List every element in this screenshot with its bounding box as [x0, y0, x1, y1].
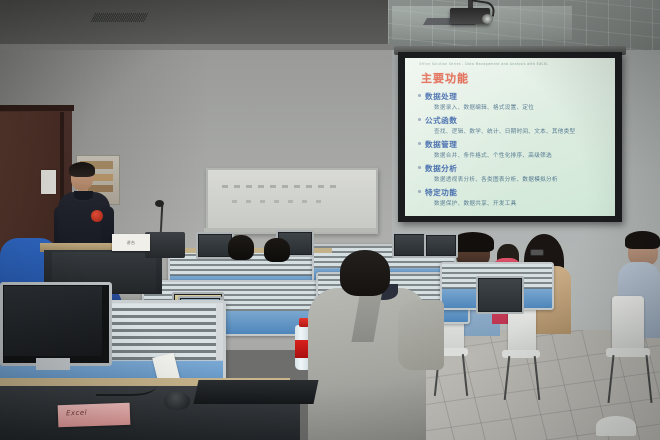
slide-block-sub: 数据透视表分析、各类图表分析、数据模拟分析: [434, 175, 611, 183]
slide-block-heading: 数据处理: [425, 91, 611, 102]
wooden-cabinet-top: [0, 105, 74, 111]
slide-block-heading: 公式函数: [425, 115, 611, 126]
slide-block-sub: 查找、逻辑、数学、统计、日期时间、文本、其他类型: [434, 127, 611, 135]
computer-mouse: [164, 392, 190, 410]
foreground-person-head: [340, 250, 390, 296]
chair-seat: [596, 416, 636, 436]
pink-label-text: Excel: [66, 409, 87, 418]
slide-bullet-icon: [418, 190, 421, 193]
presenter-hair: [69, 162, 95, 177]
classroom-photo-scene: Office Solution Series - Data Management…: [0, 0, 660, 440]
crt-monitor: [476, 276, 524, 314]
slide-bullet-icon: [418, 142, 421, 145]
slide-block-sub: 数据录入、数据编辑、格式设置、定位: [434, 103, 611, 111]
wall-notice-paper: [41, 170, 56, 194]
slide-block: 数据处理 数据录入、数据编辑、格式设置、定位: [425, 91, 611, 111]
monitor-screen: [4, 286, 102, 356]
ceiling-vent-icon: [91, 13, 148, 22]
foreground-person-arm: [398, 300, 444, 370]
microphone-icon: [155, 200, 164, 207]
slide-bullet-icon: [418, 118, 421, 121]
cable: [96, 372, 156, 396]
slide-block-heading: 数据分析: [425, 163, 611, 174]
monitor-stand: [36, 358, 70, 370]
slide-title: 主要功能: [421, 70, 469, 86]
nameplate: 讲台: [112, 234, 150, 251]
slide-block: 数据管理 数据合并、条件格式、个性化排序、高级筛选: [425, 139, 611, 159]
computer-keyboard: [193, 380, 318, 404]
whiteboard-writing: [232, 200, 327, 203]
audience-head: [228, 235, 254, 260]
audience-hair: [452, 232, 494, 252]
whiteboard-writing: [222, 185, 342, 188]
slide-block-heading: 数据管理: [425, 139, 611, 150]
slide-block-sub: 数据保护、数据共享、开发工具: [434, 199, 611, 207]
crt-monitor: [424, 233, 458, 258]
crt-monitor: [392, 232, 428, 258]
audience-head: [264, 238, 290, 262]
projector-lens-icon: [482, 14, 493, 24]
slide-bullet-icon: [418, 94, 421, 97]
nameplate-text: 讲台: [127, 240, 136, 246]
slide-block-sub: 数据合并、条件格式、个性化排序、高级筛选: [434, 151, 611, 159]
projected-slide: Office Solution Series - Data Management…: [405, 58, 615, 216]
slide-block: 特定功能 数据保护、数据共享、开发工具: [425, 187, 611, 207]
presenter-collar: [74, 191, 93, 202]
slide-block-heading: 特定功能: [425, 187, 611, 198]
slide-header-text: Office Solution Series - Data Management…: [419, 62, 548, 66]
ceiling-left-section: [0, 0, 392, 44]
slide-block: 公式函数 查找、逻辑、数学、统计、日期时间、文本、其他类型: [425, 115, 611, 135]
shirt-logo-icon: [91, 210, 103, 222]
slide-bullet-icon: [418, 166, 421, 169]
lectern-monitor: [145, 232, 185, 258]
chair-backrest: [612, 296, 644, 352]
eyeglasses-icon: [530, 249, 544, 256]
slide-block: 数据分析 数据透视表分析、各类图表分析、数据模拟分析: [425, 163, 611, 183]
audience-hair: [625, 231, 660, 249]
